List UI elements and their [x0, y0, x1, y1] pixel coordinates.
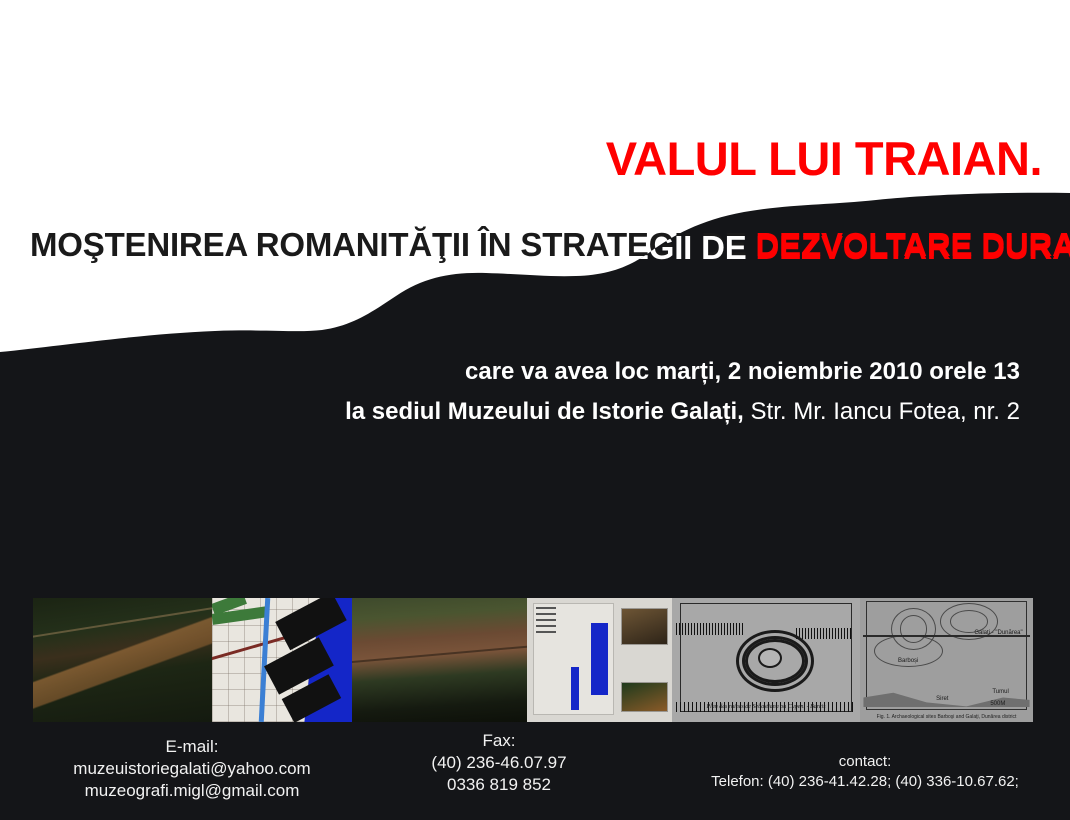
plan-inner-enclosure	[758, 648, 782, 668]
page-title-primary: VALUL LUI TRAIAN.	[0, 133, 1042, 185]
thumbnail-historic-fortification-plan: Plan des ruines de Sebastiana ou Cupeni …	[672, 598, 860, 722]
email-address-2[interactable]: muzeografi.migl@gmail.com	[0, 780, 384, 802]
contact-email-block: E-mail: muzeuistoriegalati@yahoo.com muz…	[0, 736, 384, 802]
figure-photo-excavation	[621, 608, 667, 645]
contour-scale-bar-label: 500M	[990, 701, 1005, 707]
contour-caption: Fig. 1. Archaeological sites Barboşi and…	[860, 714, 1033, 720]
contour-label-tumul: Tumul	[992, 689, 1008, 695]
phone-label: contact:	[660, 752, 1070, 772]
thumbnail-contour-site-map: Galați - "Dunărea" Barboși Siret Tumul 5…	[860, 598, 1033, 722]
figure-water-body	[591, 623, 608, 695]
event-details-line-1: care va avea loc marți, 2 noiembrie 2010…	[0, 352, 1020, 392]
image-strip: Plan des ruines de Sebastiana ou Cupeni …	[33, 598, 1033, 722]
email-address-1[interactable]: muzeuistoriegalati@yahoo.com	[0, 758, 384, 780]
thumbnail-aerial-photo-field-1	[33, 598, 212, 722]
event-details-line-2: la sediul Muzeului de Istorie Galați, St…	[0, 392, 1020, 432]
poster-root: VALUL LUI TRAIAN. MOŞTENIREA ROMANITĂŢII…	[0, 0, 1070, 820]
event-details: care va avea loc marți, 2 noiembrie 2010…	[0, 352, 1020, 432]
page-title-secondary-dark-text: MOŞTENIREA ROMANITĂŢII ÎN STRATEGII DE	[30, 226, 756, 263]
thumbnail-aerial-photo-field-2	[352, 598, 527, 722]
contour-label-siret: Siret	[936, 696, 948, 702]
page-title-secondary: MOŞTENIREA ROMANITĂŢII ÎN STRATEGII DE D…	[30, 226, 1070, 264]
thumbnail-archaeological-distribution-figure	[527, 598, 672, 722]
figure-photo-artifact	[621, 682, 667, 712]
contour-label-galati: Galați - "Dunărea"	[974, 630, 1022, 636]
contact-phone-block: contact: Telefon: (40) 236-41.42.28; (40…	[660, 752, 1070, 792]
fax-number-1: (40) 236-46.07.97	[384, 752, 614, 774]
plan-hatching	[796, 628, 852, 639]
fax-label: Fax:	[384, 730, 614, 752]
plan-caption: Plan des ruines de Sebastiana ou Cupeni …	[672, 704, 860, 710]
figure-water-body	[571, 667, 580, 709]
fax-number-2: 0336 819 852	[384, 774, 614, 796]
event-venue: la sediul Muzeului de Istorie Galați,	[345, 398, 744, 425]
event-address: Str. Mr. Iancu Fotea, nr. 2	[744, 398, 1020, 425]
figure-legend	[536, 607, 556, 634]
phone-numbers: Telefon: (40) 236-41.42.28; (40) 336-10.…	[660, 772, 1070, 792]
plan-hatching	[676, 623, 744, 635]
email-label: E-mail:	[0, 736, 384, 758]
thumbnail-topographic-map-overlay	[212, 598, 352, 722]
contact-fax-block: Fax: (40) 236-46.07.97 0336 819 852	[384, 730, 614, 796]
contour-label-barbosi: Barboși	[898, 658, 918, 664]
page-title-secondary-accent-text: DEZVOLTARE DURABILĂ	[756, 226, 1070, 263]
